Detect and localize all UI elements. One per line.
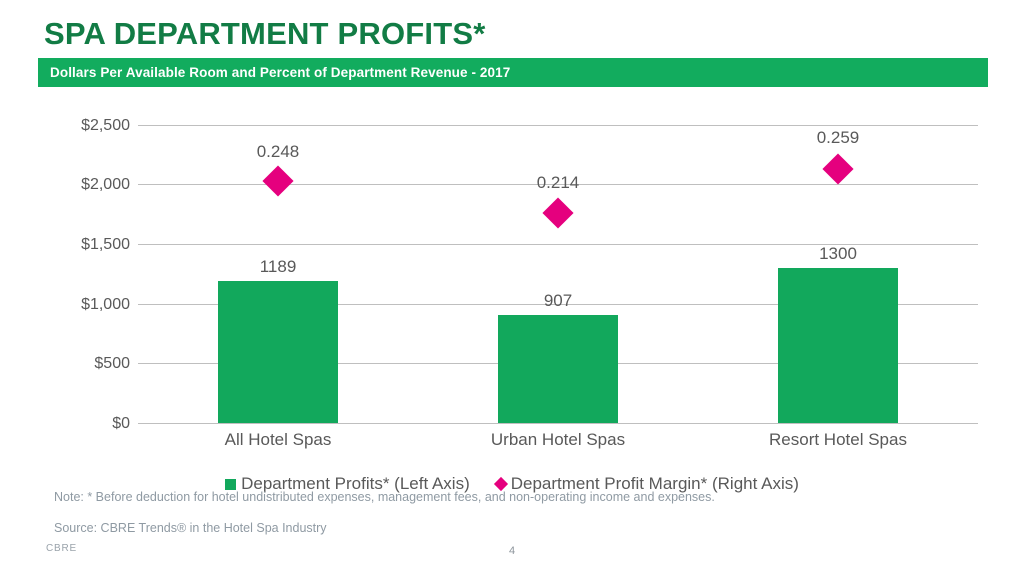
bar-value-label-all: 1189 <box>218 257 338 277</box>
footnote-source: Source: CBRE Trends® in the Hotel Spa In… <box>54 521 327 535</box>
footnote-note: Note: * Before deduction for hotel undis… <box>54 489 814 507</box>
marker-profit-margin-all[interactable] <box>262 165 293 196</box>
ytick-label-1500: $1,500 <box>58 236 130 254</box>
ytick-label-2000: $2,000 <box>58 176 130 194</box>
bar-urban-hotel-spas[interactable] <box>498 315 618 423</box>
page-number: 4 <box>0 545 1024 557</box>
bar-all-hotel-spas[interactable] <box>218 281 338 423</box>
ytick-label-500: $500 <box>58 355 130 373</box>
category-label-all-hotel-spas: All Hotel Spas <box>198 430 358 450</box>
bar-resort-hotel-spas[interactable] <box>778 268 898 423</box>
square-marker-icon <box>225 479 236 490</box>
marker-profit-margin-urban[interactable] <box>542 197 573 228</box>
ytick-label-2500: $2,500 <box>58 117 130 135</box>
ytick-label-0: $0 <box>58 415 130 433</box>
bar-value-label-urban: 907 <box>498 291 618 311</box>
marker-value-label-urban: 0.214 <box>498 173 618 193</box>
category-label-urban-hotel-spas: Urban Hotel Spas <box>478 430 638 450</box>
gridline-0 <box>138 423 978 424</box>
marker-value-label-resort: 0.259 <box>778 128 898 148</box>
gridline-2500 <box>138 125 978 126</box>
bar-value-label-resort: 1300 <box>778 244 898 264</box>
marker-value-label-all: 0.248 <box>218 142 338 162</box>
slide: SPA DEPARTMENT PROFITS* Dollars Per Avai… <box>0 0 1024 566</box>
ytick-label-1000: $1,000 <box>58 296 130 314</box>
marker-profit-margin-resort[interactable] <box>822 153 853 184</box>
category-label-resort-hotel-spas: Resort Hotel Spas <box>758 430 918 450</box>
